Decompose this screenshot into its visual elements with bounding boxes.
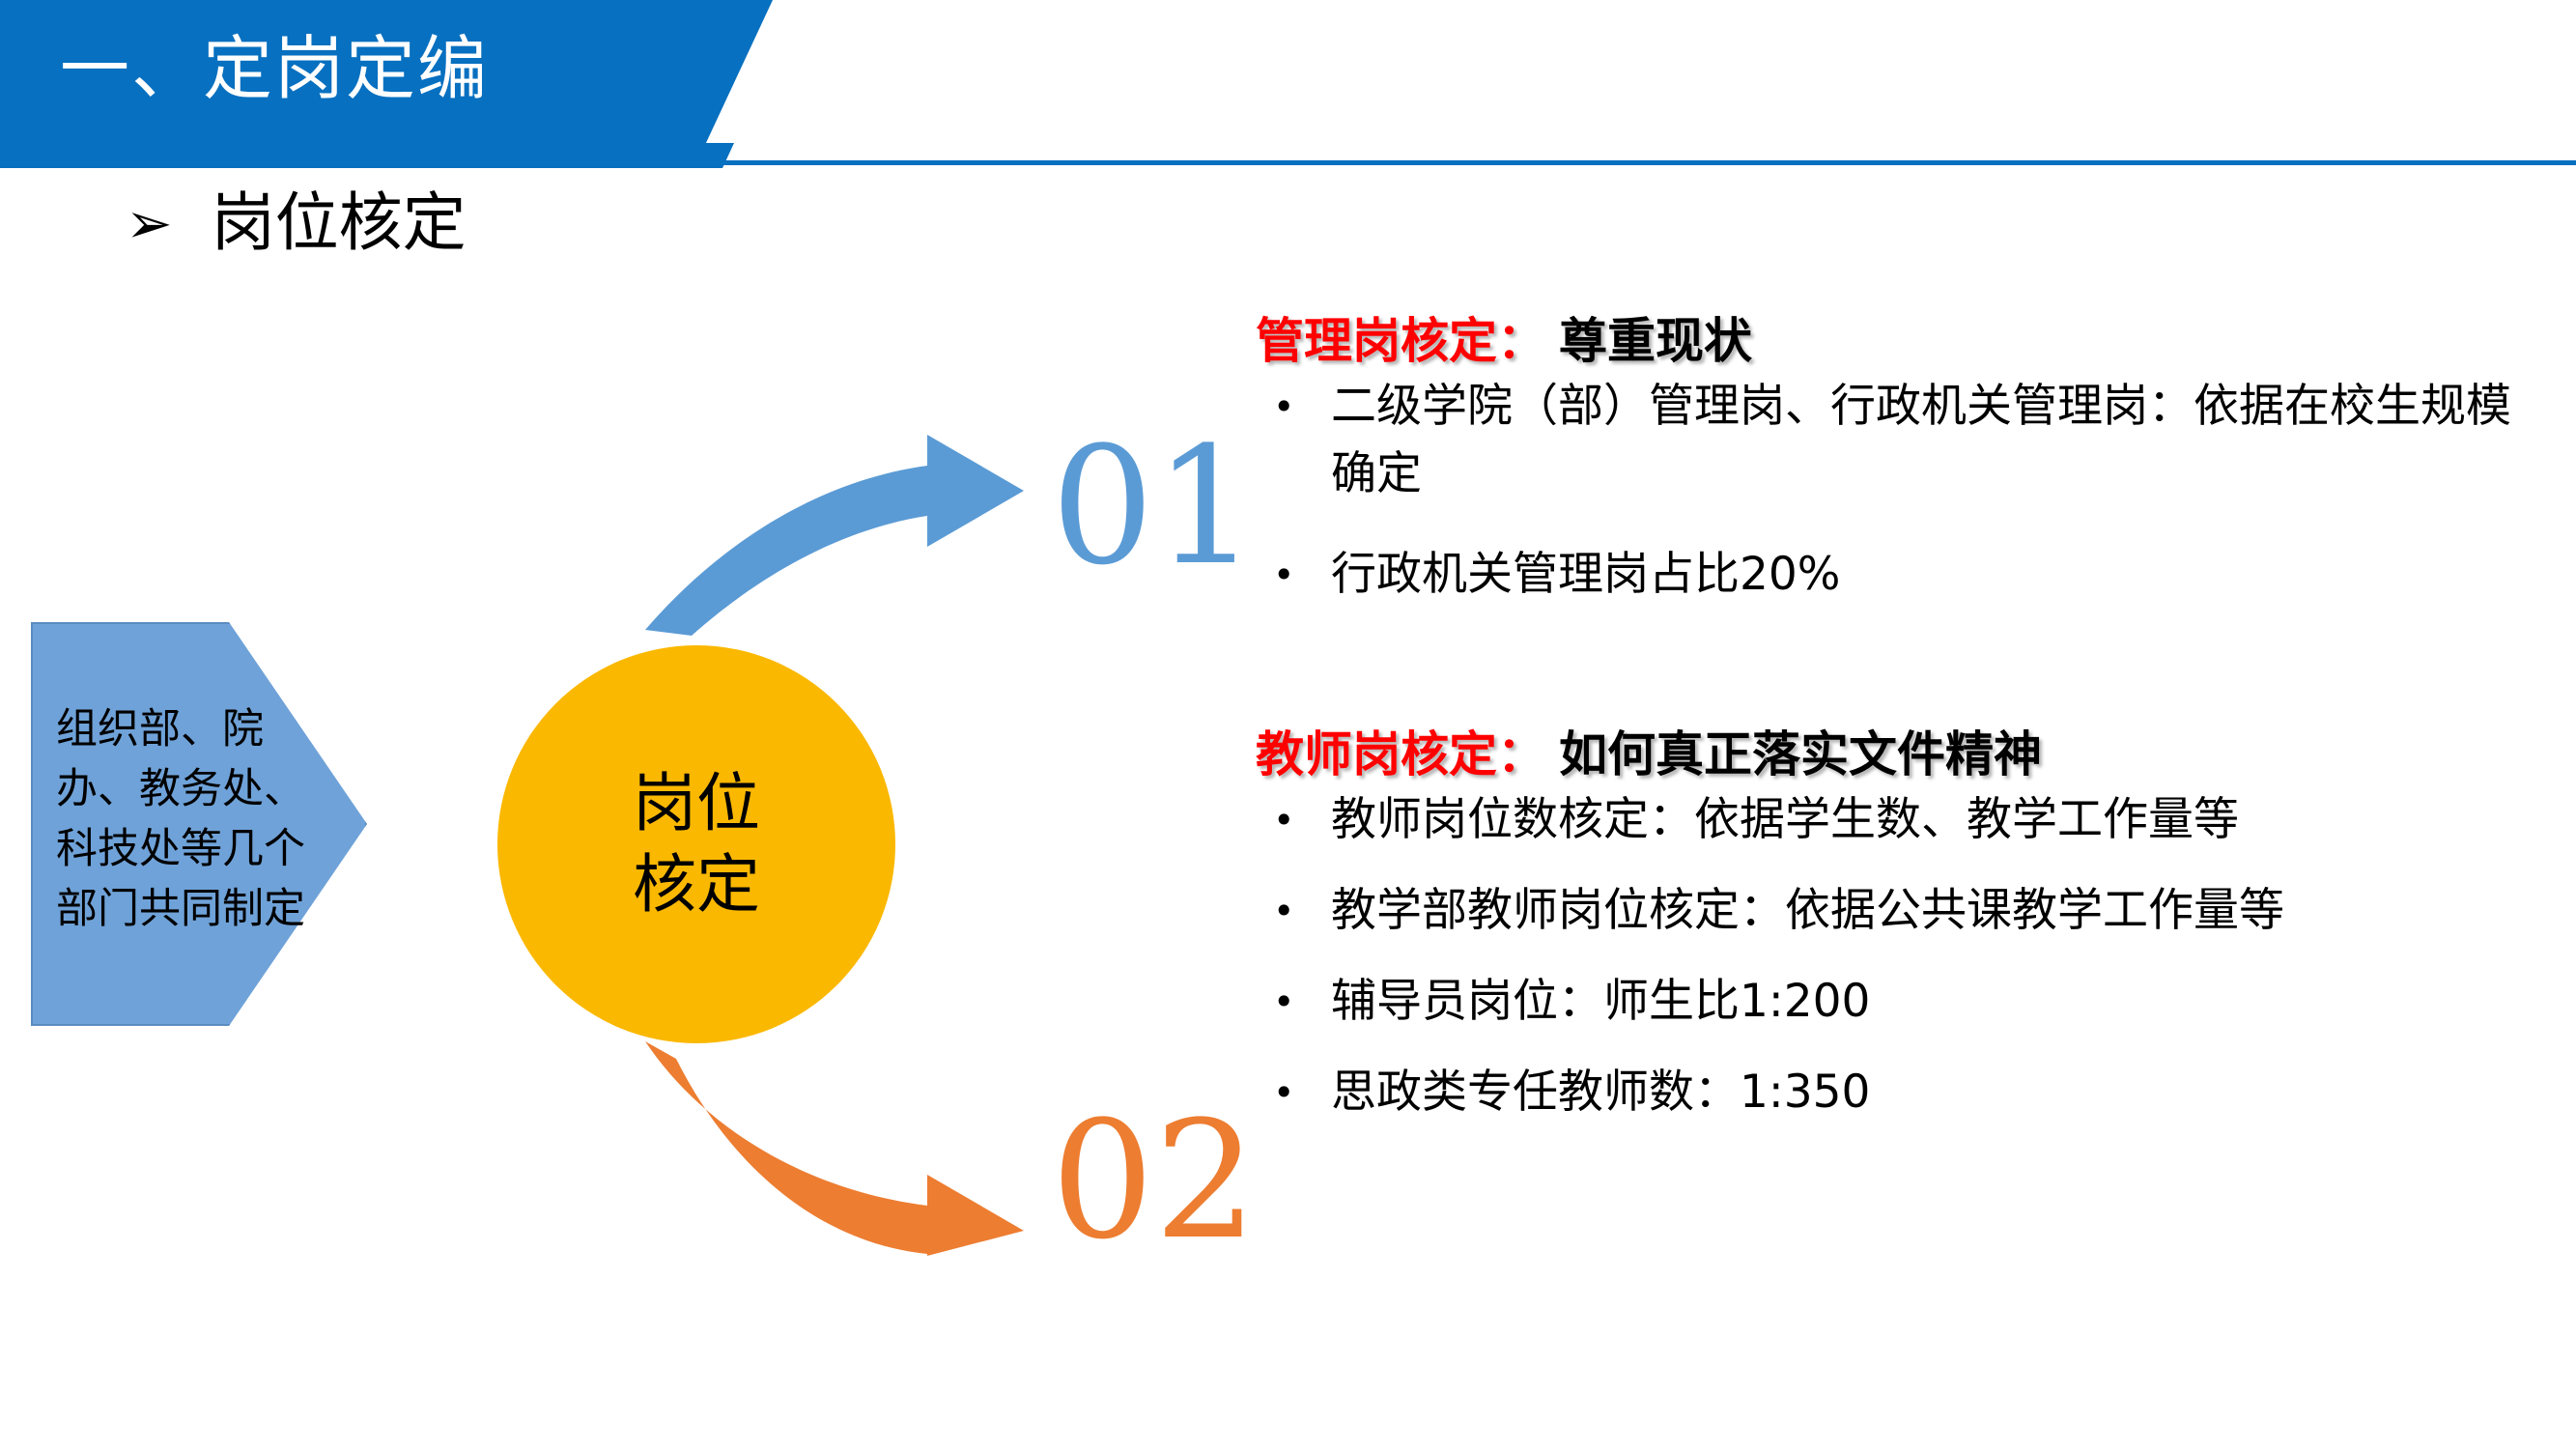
center-circle-label-line2: 核定 (633, 844, 760, 925)
content-block-1-heading-highlight: 管理岗核定： (1256, 313, 1545, 369)
arrow-bullet-icon: ➢ (126, 195, 173, 251)
marker-number-01: 01 (1051, 425, 1258, 587)
list-item: 辅导员岗位：师生比1:200 (1256, 968, 2550, 1036)
content-block-2-bullets: 教师岗位数核定：依据学生数、教学工作量等 教学部教师岗位核定：依据公共课教学工作… (1256, 786, 2550, 1126)
content-block-2-heading-rest: 如何真正落实文件精神 (1559, 726, 2042, 782)
pentagon-label: 组织部、院办、教务处、科技处等几个部门共同制定 (56, 699, 346, 939)
content-block-1-heading-rest: 尊重现状 (1559, 313, 1752, 369)
list-item: 教学部教师岗位核定：依据公共课教学工作量等 (1256, 877, 2550, 945)
list-item: 思政类专任教师数：1:350 (1256, 1059, 2550, 1126)
list-item: 二级学院（部）管理岗、行政机关管理岗：依据在校生规模确定 (1256, 373, 2550, 508)
content-block-2-heading-highlight: 教师岗核定： (1256, 726, 1545, 782)
list-item: 教师岗位数核定：依据学生数、教学工作量等 (1256, 786, 2550, 854)
marker-number-02: 02 (1051, 1099, 1258, 1262)
section-subheading-label: 岗位核定 (212, 191, 467, 255)
curved-arrow-up-right-icon (637, 415, 1091, 638)
curved-arrow-down-right-icon (637, 1034, 1091, 1256)
slide-canvas: 一、定岗定编 ➢ 岗位核定 组织部、院办、教务处、科技处等几个部门共同制定 岗位… (0, 0, 2576, 1450)
header-banner-shape-lower (0, 143, 734, 168)
content-block-1-heading: 管理岗核定：尊重现状 (1256, 309, 2550, 373)
content-block-1-bullets: 二级学院（部）管理岗、行政机关管理岗：依据在校生规模确定 行政机关管理岗占比20… (1256, 373, 2550, 609)
section-subheading: ➢ 岗位核定 (126, 191, 467, 255)
content-column: 管理岗核定：尊重现状 二级学院（部）管理岗、行政机关管理岗：依据在校生规模确定 … (1256, 309, 2550, 1150)
center-circle-label: 岗位 核定 (497, 645, 895, 1043)
page-title: 一、定岗定编 (60, 15, 489, 122)
list-item: 行政机关管理岗占比20% (1256, 541, 2550, 609)
content-block-2-heading: 教师岗核定：如何真正落实文件精神 (1256, 723, 2550, 786)
center-circle-label-line1: 岗位 (633, 763, 760, 844)
header-divider-rule (722, 160, 2576, 165)
